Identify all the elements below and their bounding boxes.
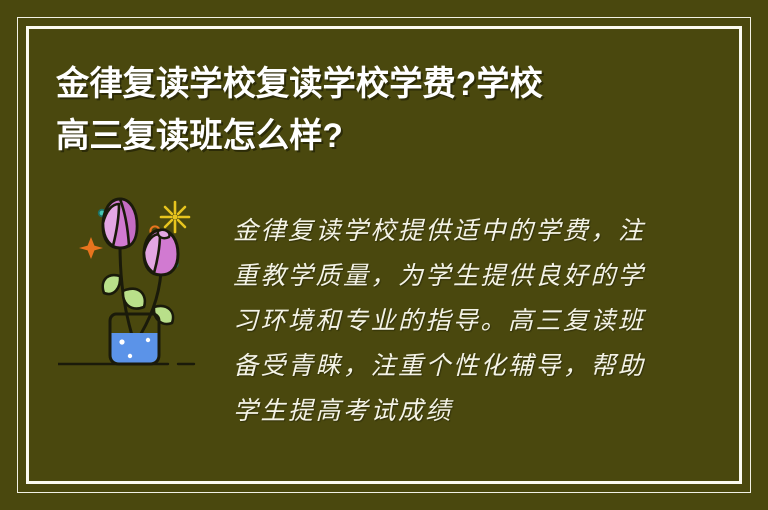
poster-canvas: 金律复读学校复读学校学费?学校 高三复读班怎么样? — [0, 0, 768, 510]
flowers-in-vase-illustration — [58, 190, 223, 380]
sparkle-star-yellow-icon — [161, 202, 189, 232]
tulip-flower-large — [103, 199, 137, 248]
body-paragraph: 金律复读学校提供适中的学费，注重教学质量，为学生提供良好的学习环境和专业的指导。… — [233, 208, 653, 433]
water-fill — [112, 333, 158, 363]
water-bubble — [128, 354, 132, 358]
tulip-flower-small — [144, 230, 178, 275]
page-title: 金律复读学校复读学校学费?学校 高三复读班怎么样? — [56, 58, 664, 162]
glass-vase — [110, 314, 159, 364]
water-bubble — [119, 339, 124, 344]
water-bubble — [146, 338, 150, 342]
sparkle-star-orange-icon — [79, 237, 103, 259]
